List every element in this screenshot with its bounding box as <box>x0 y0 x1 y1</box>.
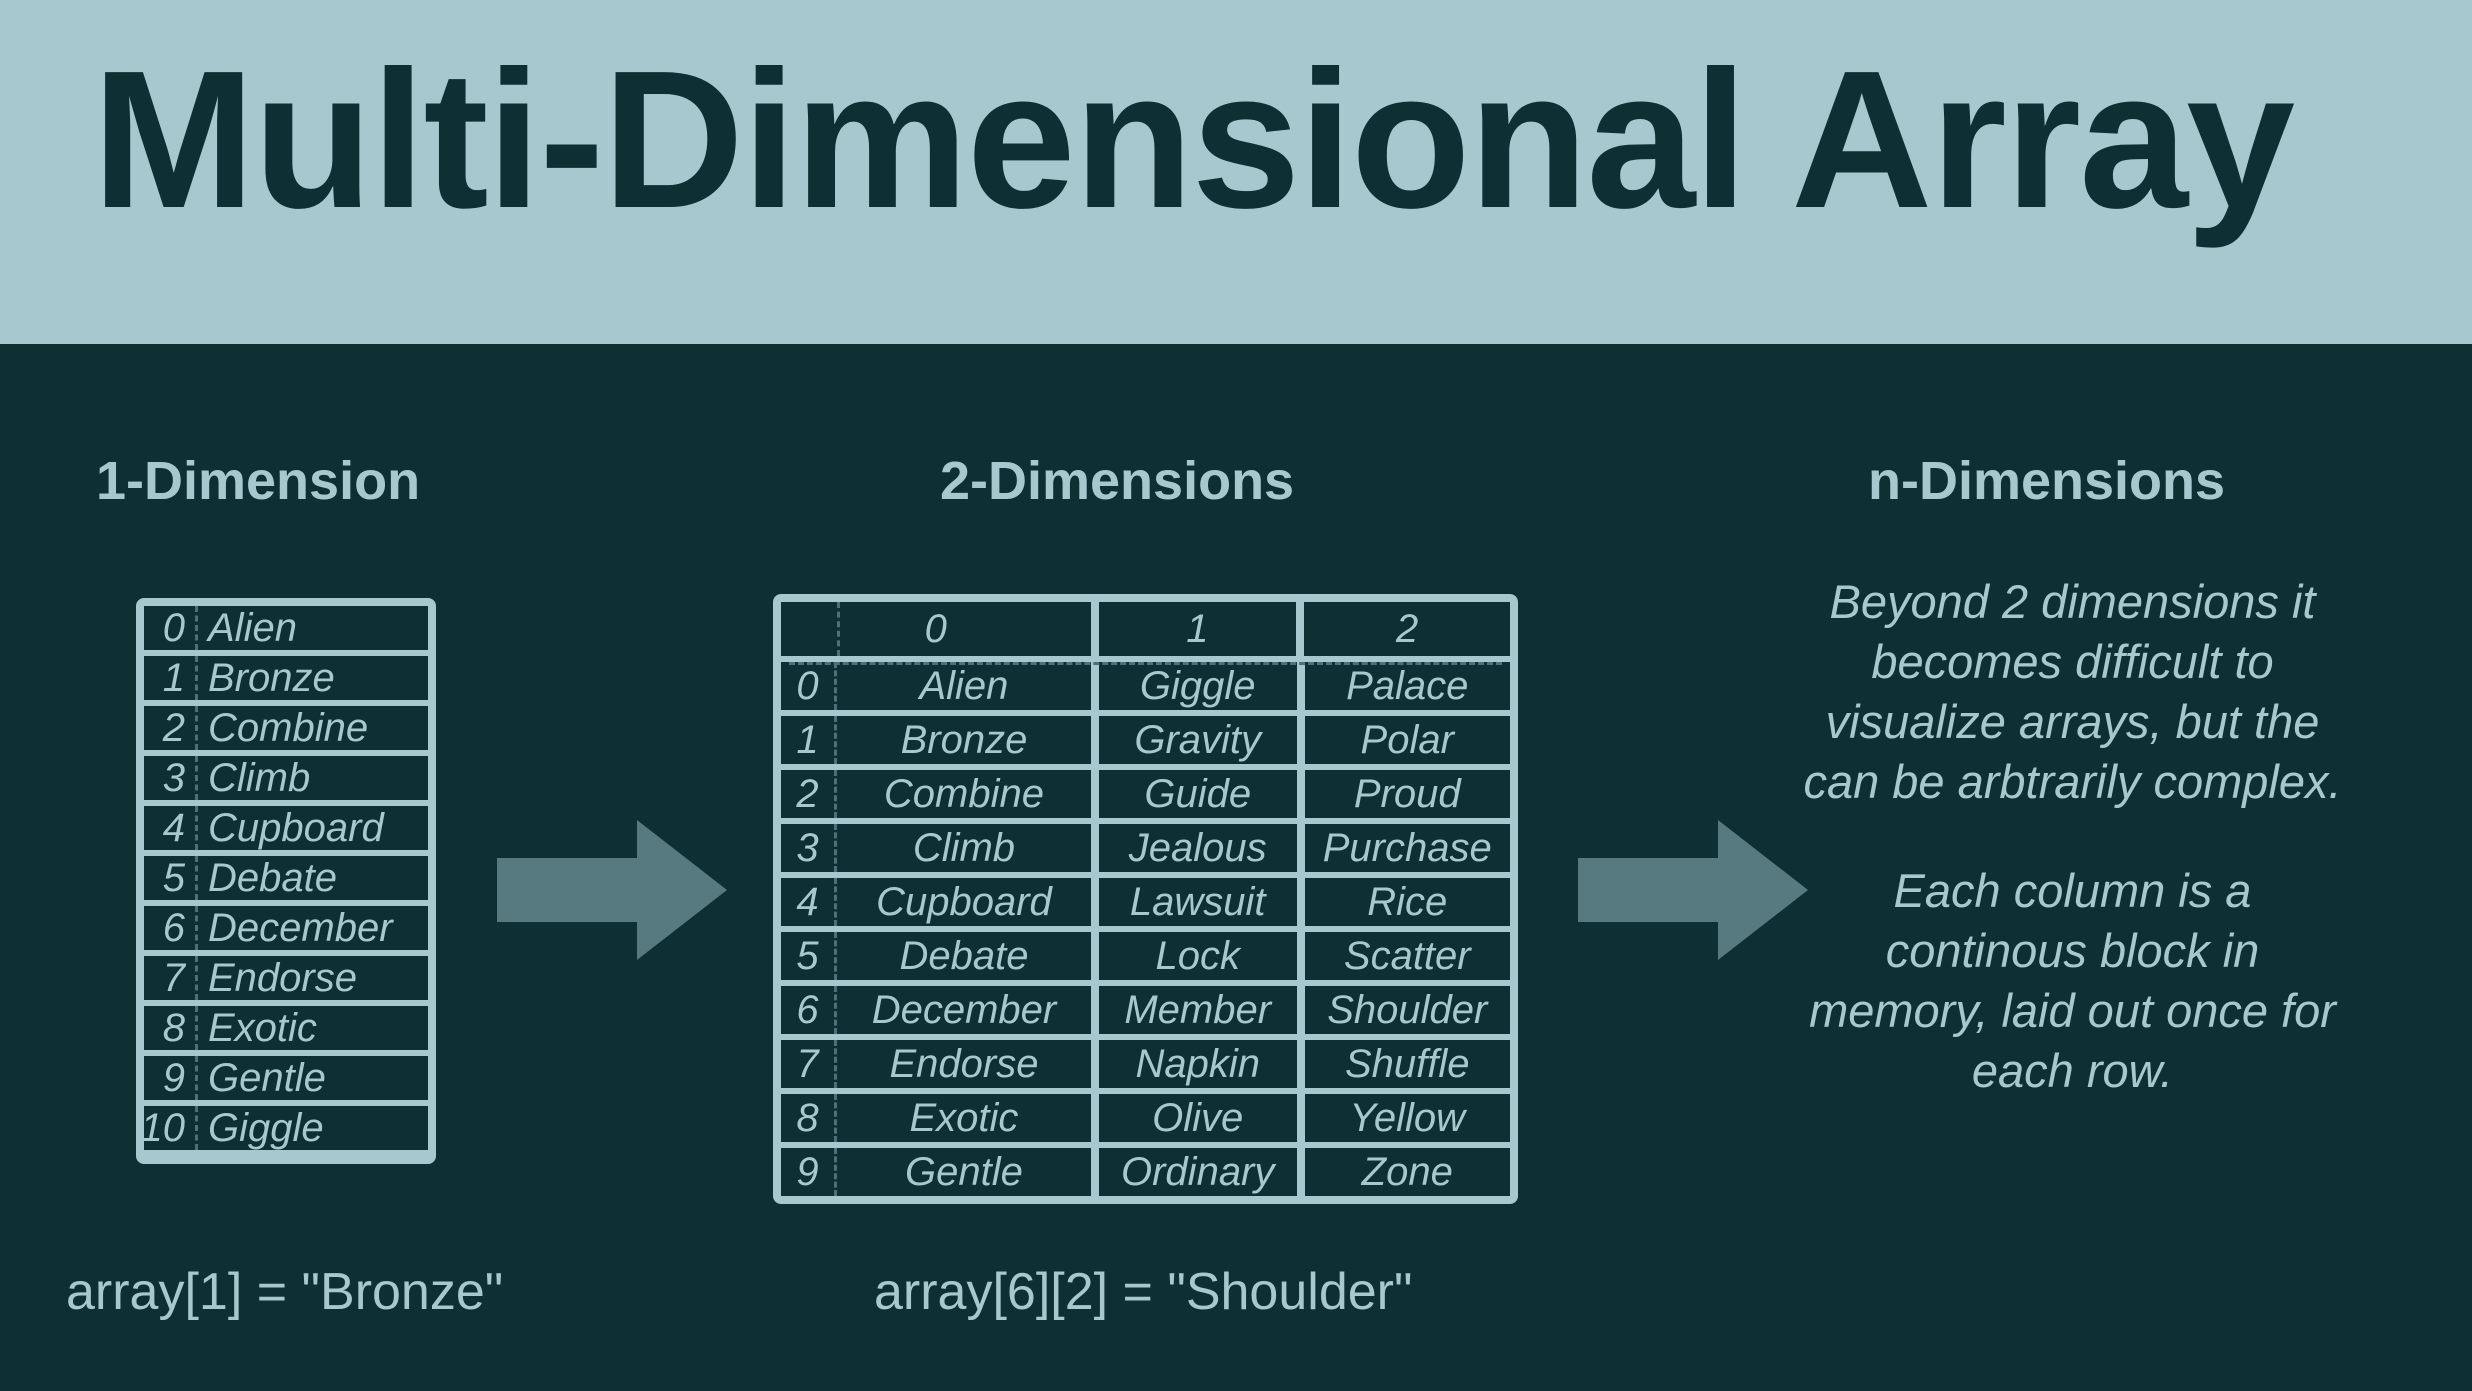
table-row[interactable]: ExoticOliveYellow8 <box>781 1094 1510 1142</box>
table-row[interactable]: 7Endorse <box>144 956 428 1000</box>
table-cell: Scatter <box>1305 932 1511 980</box>
table-cell: Olive <box>1099 1094 1297 1142</box>
row-index-cell: 4 <box>781 878 837 926</box>
row-value-cell: Alien <box>208 606 428 651</box>
table-row-inner: 0Alien <box>144 606 428 650</box>
row-value-cell: Exotic <box>208 1006 428 1051</box>
row-index-cell: 3 <box>781 824 837 872</box>
table-header-row: 012 <box>781 602 1510 656</box>
section-heading-two-dimensions: 2-Dimensions <box>940 450 1294 512</box>
arrow-2d-to-nd-icon <box>1578 820 1808 965</box>
table-cell: Palace <box>1305 662 1511 710</box>
row-index-cell: 5 <box>781 932 837 980</box>
table-row[interactable]: DecemberMemberShoulder6 <box>781 986 1510 1034</box>
table-row[interactable]: EndorseNapkinShuffle7 <box>781 1040 1510 1088</box>
table-row[interactable]: 3Climb <box>144 756 428 800</box>
table-row-inner: 4Cupboard <box>144 806 428 850</box>
table-row-inner: 10Giggle <box>144 1106 428 1150</box>
table-cell: Lock <box>1099 932 1297 980</box>
row-index-cell: 5 <box>144 856 198 900</box>
table-cell: Shuffle <box>1305 1040 1511 1088</box>
table-row[interactable]: CombineGuideProud2 <box>781 770 1510 818</box>
table-cell: Gravity <box>1099 716 1297 764</box>
column-header-cell: 2 <box>1304 602 1510 656</box>
row-index-cell: 7 <box>144 956 198 1000</box>
table-cell: Proud <box>1305 770 1511 818</box>
table-row-inner: 1Bronze <box>144 656 428 700</box>
table-row[interactable]: 6December <box>144 906 428 950</box>
row-index-cell: 2 <box>144 706 198 750</box>
table-cell: Rice <box>1305 878 1511 926</box>
table-row-inner: 7Endorse <box>144 956 428 1000</box>
row-index-cell: 9 <box>781 1148 837 1196</box>
table-row[interactable]: DebateLockScatter5 <box>781 932 1510 980</box>
table-cell: Shoulder <box>1305 986 1511 1034</box>
caption-two-dimensions: array[6][2] = "Shoulder" <box>874 1262 1412 1322</box>
table-cell: Napkin <box>1099 1040 1297 1088</box>
row-value-cell: Giggle <box>208 1106 428 1151</box>
row-value-cell: Climb <box>208 756 428 801</box>
array-table-two-dimensions: 012AlienGigglePalace0BronzeGravityPolar1… <box>773 594 1518 1204</box>
arrow-1d-to-2d-icon <box>497 820 727 965</box>
table-cell: Polar <box>1305 716 1511 764</box>
row-value-cell: Bronze <box>208 656 428 701</box>
row-index-cell: 7 <box>781 1040 837 1088</box>
table-cell: Jealous <box>1099 824 1297 872</box>
table-row[interactable]: 0Alien <box>144 606 428 650</box>
row-value-cell: Endorse <box>208 956 428 1001</box>
row-index-cell: 1 <box>781 716 837 764</box>
table-row-inner: 6December <box>144 906 428 950</box>
row-index-cell: 1 <box>144 656 198 700</box>
row-index-cell: 0 <box>144 606 198 650</box>
table-row[interactable]: 8Exotic <box>144 1006 428 1050</box>
table-row-inner: 8Exotic <box>144 1006 428 1050</box>
row-value-cell: Combine <box>208 706 428 751</box>
table-row-inner: 9Gentle <box>144 1056 428 1100</box>
caption-one-dimension: array[1] = "Bronze" <box>66 1262 503 1322</box>
row-index-cell: 3 <box>144 756 198 800</box>
table-row[interactable]: 4Cupboard <box>144 806 428 850</box>
n-dimensions-paragraph-2: Each column is a continous block in memo… <box>1790 861 2355 1102</box>
n-dimensions-paragraph-1: Beyond 2 dimensions it becomes difficult… <box>1790 572 2355 813</box>
row-value-cell: Gentle <box>208 1056 428 1101</box>
row-index-cell: 8 <box>781 1094 837 1142</box>
table-row[interactable]: 2Combine <box>144 706 428 750</box>
section-heading-n-dimensions: n-Dimensions <box>1868 450 2225 512</box>
page-title: Multi-Dimensional Array <box>92 42 2293 238</box>
row-index-cell: 0 <box>781 662 837 710</box>
table-row[interactable]: CupboardLawsuitRice4 <box>781 878 1510 926</box>
table-row[interactable]: 10Giggle <box>144 1106 428 1150</box>
row-index-cell: 4 <box>144 806 198 850</box>
row-index-cell: 6 <box>781 986 837 1034</box>
table-row[interactable]: AlienGigglePalace0 <box>781 662 1510 710</box>
table-row[interactable]: 9Gentle <box>144 1056 428 1100</box>
row-index-cell: 9 <box>144 1056 198 1100</box>
header-band: Multi-Dimensional Array <box>0 0 2472 344</box>
header-vertical-dashed-divider <box>837 602 840 656</box>
table-row-inner: 3Climb <box>144 756 428 800</box>
column-header-cell: 0 <box>781 602 1091 656</box>
array-table-one-dimension: 0Alien1Bronze2Combine3Climb4Cupboard5Deb… <box>136 598 436 1164</box>
column-header-cell: 1 <box>1099 602 1297 656</box>
table-cell: Purchase <box>1305 824 1511 872</box>
table-row-inner: 5Debate <box>144 856 428 900</box>
table-cell: Yellow <box>1305 1094 1511 1142</box>
row-value-cell: Cupboard <box>208 806 428 851</box>
table-row[interactable]: 1Bronze <box>144 656 428 700</box>
table-row-inner: 2Combine <box>144 706 428 750</box>
row-index-cell: 8 <box>144 1006 198 1050</box>
table-cell: Member <box>1099 986 1297 1034</box>
header-horizontal-dashed-divider <box>789 662 1502 665</box>
row-index-cell: 6 <box>144 906 198 950</box>
table-cell: Giggle <box>1099 662 1297 710</box>
table-cell: Zone <box>1305 1148 1511 1196</box>
table-cell: Lawsuit <box>1099 878 1297 926</box>
row-index-cell: 10 <box>144 1106 198 1150</box>
table-row[interactable]: BronzeGravityPolar1 <box>781 716 1510 764</box>
row-value-cell: Debate <box>208 856 428 901</box>
table-cell: Ordinary <box>1099 1148 1297 1196</box>
section-heading-one-dimension: 1-Dimension <box>96 450 420 512</box>
row-index-cell: 2 <box>781 770 837 818</box>
row-value-cell: December <box>208 906 428 951</box>
n-dimensions-description: Beyond 2 dimensions it becomes difficult… <box>1790 572 2355 1101</box>
table-row[interactable]: ClimbJealousPurchase3 <box>781 824 1510 872</box>
table-cell: Guide <box>1099 770 1297 818</box>
table-row[interactable]: 5Debate <box>144 856 428 900</box>
table-row[interactable]: GentleOrdinaryZone9 <box>781 1148 1510 1196</box>
